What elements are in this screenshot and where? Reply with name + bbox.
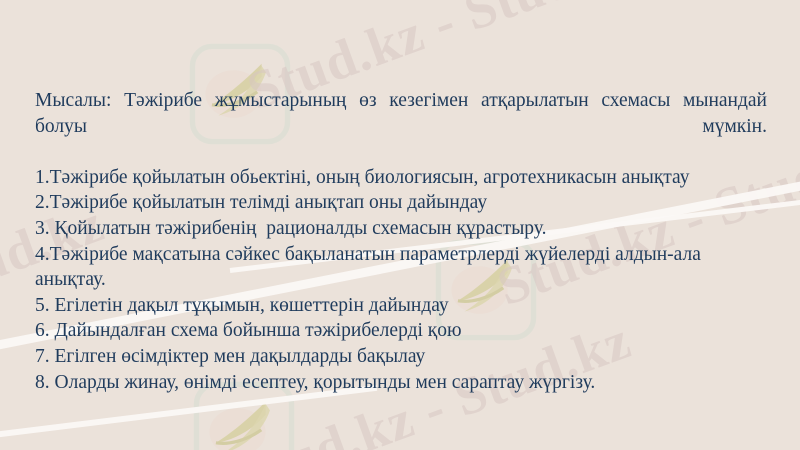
list-item: 4.Тәжірибе мақсатына сәйкес бақыланатын … xyxy=(35,242,767,293)
list-item: 5. Егілетін дақыл тұқымын, көшеттерін да… xyxy=(35,293,767,319)
list-item: 1.Тәжірибе қойылатын обьектіні, оның био… xyxy=(35,165,767,191)
list-item: 6. Дайындалған схема бойынша тәжірибелер… xyxy=(35,318,767,344)
list-item: 8. Оларды жинау, өнімді есептеу, қорытын… xyxy=(35,370,767,396)
list-item: 2.Тәжірибе қойылатын телімді анықтап оны… xyxy=(35,190,767,216)
intro-paragraph: Мысалы: Тәжірибе жұмыстарының өз кезегім… xyxy=(35,88,767,165)
slide-canvas: Stud.kz - Stud.kz Stud.kz - Stud.kz Stud… xyxy=(0,0,800,450)
list-item: 3. Қойылатын тәжірибенің рационалды схем… xyxy=(35,216,767,242)
document-body: Мысалы: Тәжірибе жұмыстарының өз кезегім… xyxy=(35,88,767,395)
list-item: 7. Егілген өсімдіктер мен дақылдарды бақ… xyxy=(35,344,767,370)
